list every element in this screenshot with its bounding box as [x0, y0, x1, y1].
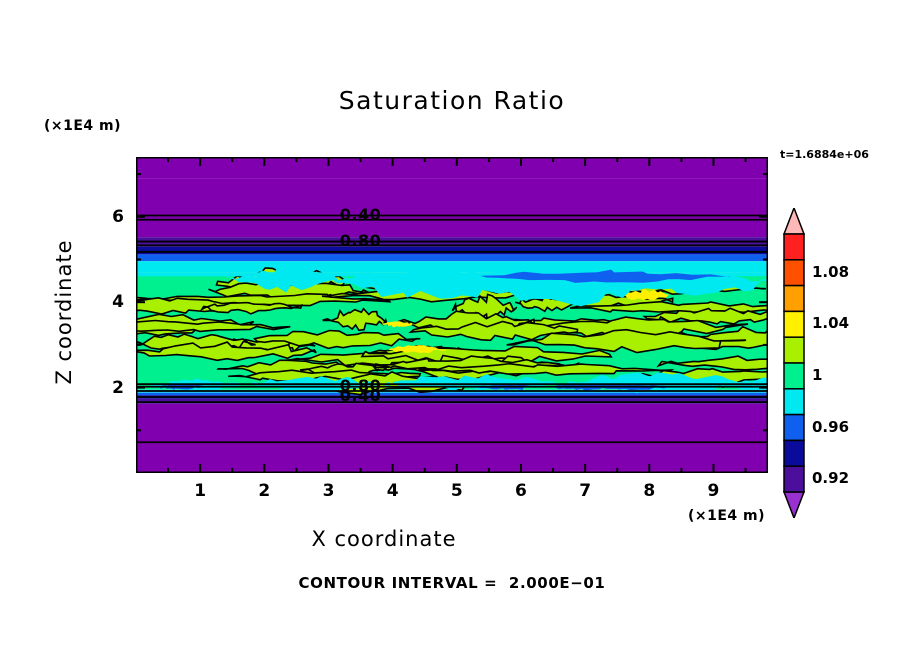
contour-value-label: 0.40: [340, 386, 381, 405]
x-tick-label: 7: [565, 481, 605, 501]
x-tick-label: 9: [693, 481, 733, 501]
y-axis-title: Z coordinate: [52, 212, 76, 412]
x-tick-label: 6: [501, 481, 541, 501]
y-tick-label: 6: [98, 207, 124, 227]
contour-field: [136, 157, 768, 473]
y-axis-unit-label: (×1E4 m): [44, 118, 121, 134]
colorbar[interactable]: [782, 208, 806, 518]
colorbar-tick-label: 1.04: [812, 314, 849, 332]
colorbar-swatches: [782, 208, 806, 518]
chart-title: Saturation Ratio: [0, 86, 904, 115]
y-tick-label: 2: [98, 378, 124, 398]
colorbar-tick-label: 0.92: [812, 469, 849, 487]
x-tick-label: 1: [180, 481, 220, 501]
contour-value-label: 0.40: [340, 205, 381, 224]
x-tick-label: 5: [437, 481, 477, 501]
contour-interval-label: CONTOUR INTERVAL = 2.000E−01: [0, 574, 904, 592]
x-tick-label: 8: [629, 481, 669, 501]
contour-plot-area[interactable]: 0.400.800.800.40: [136, 157, 768, 473]
x-tick-label: 4: [373, 481, 413, 501]
x-tick-label: 3: [308, 481, 348, 501]
colorbar-tick-label: 1.08: [812, 263, 849, 281]
y-tick-label: 4: [98, 292, 124, 312]
colorbar-tick-label: 1: [812, 366, 822, 384]
contour-value-label: 0.80: [340, 231, 381, 250]
x-axis-title: X coordinate: [0, 527, 768, 551]
colorbar-tick-label: 0.96: [812, 418, 849, 436]
x-tick-label: 2: [244, 481, 284, 501]
x-axis-unit-label: (×1E4 m): [688, 508, 765, 524]
timestamp-label: t=1.6884e+06: [780, 148, 869, 161]
